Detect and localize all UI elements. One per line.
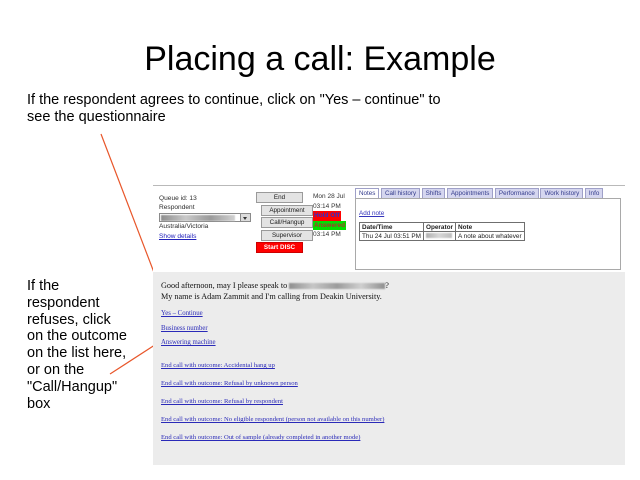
cell-operator (423, 232, 455, 241)
call-status-block: Mon 28 Jul 03:14 PM Hold Off Answered 03… (313, 192, 355, 240)
link-outcome-out-of-sample[interactable]: End call with outcome: Out of sample (al… (161, 434, 601, 441)
column-datetime: Date/Time (360, 223, 424, 232)
notes-tab-content: Add note Date/Time Operator Note Thu 24 … (355, 198, 621, 270)
column-note: Note (455, 223, 524, 232)
notes-table: Date/Time Operator Note Thu 24 Jul 03:51… (359, 222, 525, 241)
slide: Placing a call: Example If the responden… (0, 0, 640, 480)
chevron-down-icon[interactable] (240, 214, 250, 221)
script-line-1-before: Good afternoon, may I please speak to (161, 281, 289, 290)
supervisor-button[interactable]: Supervisor (261, 230, 313, 241)
call-control-buttons: End Appointment Call/Hangup Supervisor S… (256, 192, 308, 255)
call-script: Good afternoon, may I please speak to ? … (161, 280, 561, 302)
call-outcome-links: End call with outcome: Accidental hang u… (161, 362, 601, 452)
respondent-select[interactable] (159, 213, 251, 222)
add-note-link[interactable]: Add note (359, 210, 384, 217)
respondent-name-redacted (289, 283, 385, 289)
link-outcome-refusal-unknown-person[interactable]: End call with outcome: Refusal by unknow… (161, 380, 601, 387)
timezone-label: Australia/Victoria (159, 222, 257, 231)
queue-info-block: Queue id: 13 Respondent Australia/Victor… (159, 194, 257, 241)
script-line-2: My name is Adam Zammit and I'm calling f… (161, 291, 561, 302)
answered-status-badge: Answered (313, 221, 346, 231)
table-row: Thu 24 Jul 03:51 PM A note about whateve… (360, 232, 525, 241)
end-button[interactable]: End (256, 192, 303, 203)
respondent-redacted-value (161, 215, 235, 221)
link-outcome-refusal-respondent[interactable]: End call with outcome: Refusal by respon… (161, 398, 601, 405)
column-operator: Operator (423, 223, 455, 232)
respondent-label: Respondent (159, 203, 257, 212)
annotation-continue: If the respondent agrees to continue, cl… (27, 92, 457, 126)
link-yes-continue[interactable]: Yes – Continue (161, 310, 591, 317)
status-date: Mon 28 Jul (313, 192, 355, 202)
annotation-refuse: If the respondent refuses, click on the … (27, 278, 127, 412)
appointment-button[interactable]: Appointment (261, 205, 313, 216)
script-line-1-after: ? (385, 281, 389, 290)
app-toolbar-area: Queue id: 13 Respondent Australia/Victor… (153, 185, 625, 273)
operator-redacted-value (426, 233, 452, 238)
link-answering-machine[interactable]: Answering machine (161, 339, 591, 346)
show-details-link[interactable]: Show details (159, 232, 257, 242)
cell-datetime: Thu 24 Jul 03:51 PM (360, 232, 424, 241)
response-choice-links: Yes – Continue Business number Answering… (161, 310, 591, 354)
info-tab-panel: Notes Call history Shifts Appointments P… (355, 188, 623, 271)
hold-status-badge: Hold Off (313, 211, 341, 221)
start-disc-button[interactable]: Start DISC (256, 242, 303, 253)
embedded-app-screenshot: Queue id: 13 Respondent Australia/Victor… (153, 185, 625, 465)
call-hangup-button[interactable]: Call/Hangup (261, 217, 313, 228)
table-header-row: Date/Time Operator Note (360, 223, 525, 232)
link-outcome-no-eligible-respondent[interactable]: End call with outcome: No eligible respo… (161, 416, 601, 423)
status-time-bottom: 03:14 PM (313, 230, 355, 240)
link-business-number[interactable]: Business number (161, 325, 591, 332)
queue-id-label: Queue id: 13 (159, 194, 257, 203)
page-title: Placing a call: Example (0, 40, 640, 79)
status-time-top: 03:14 PM (313, 202, 355, 212)
cell-note: A note about whatever (455, 232, 524, 241)
link-outcome-accidental-hangup[interactable]: End call with outcome: Accidental hang u… (161, 362, 601, 369)
script-line-1: Good afternoon, may I please speak to ? (161, 280, 561, 291)
app-script-area: Good afternoon, may I please speak to ? … (153, 272, 625, 465)
